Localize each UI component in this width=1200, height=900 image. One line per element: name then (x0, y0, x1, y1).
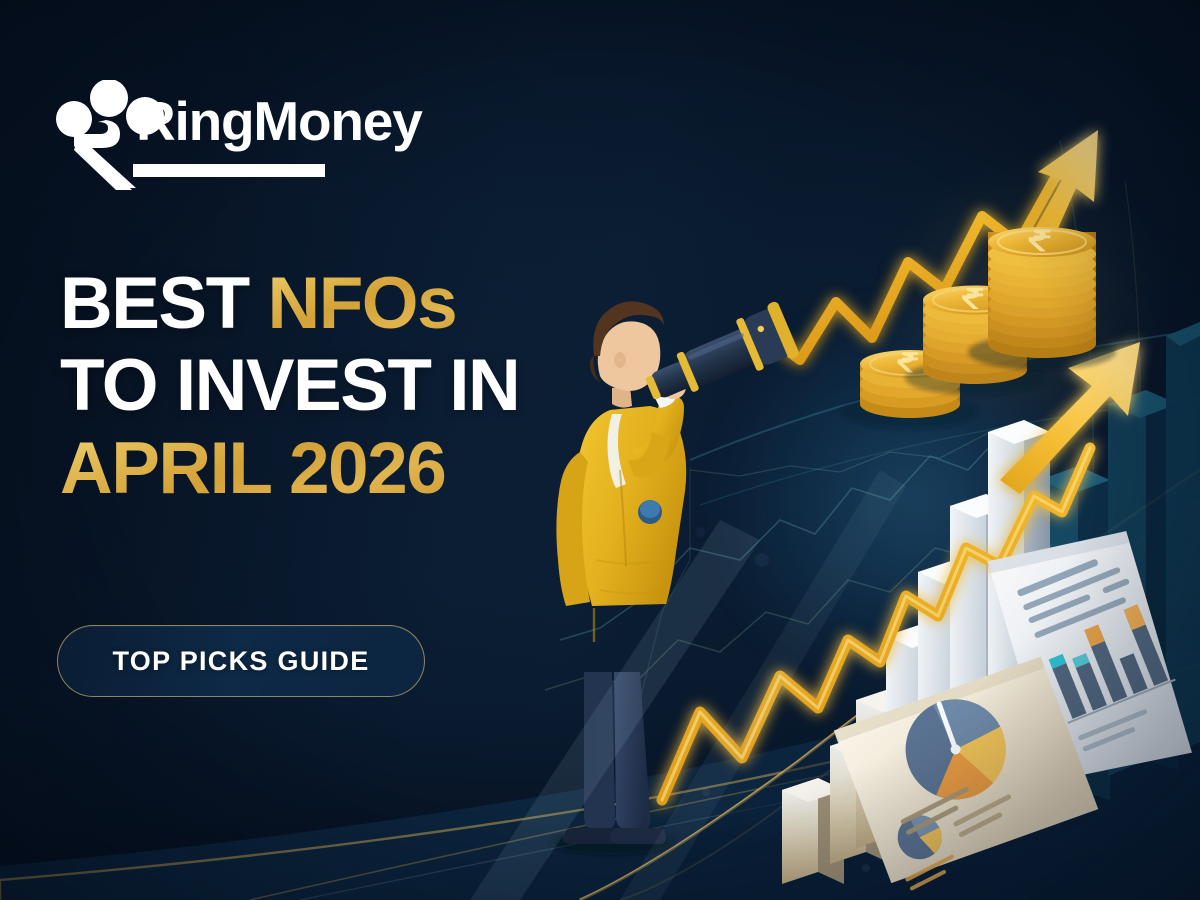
headline-phrase-april-2026: APRIL 2026 (60, 428, 445, 509)
headline-phrase-to-invest-in: TO INVEST IN (60, 345, 519, 426)
headline-block: BEST NFOs TO INVEST IN APRIL 2026 (60, 268, 600, 505)
logo-wordmark: RingMoney (136, 94, 422, 149)
top-picks-guide-badge[interactable]: TOP PICKS GUIDE (57, 625, 425, 697)
logo-underline-bar (133, 164, 325, 177)
headline-word-best: BEST (60, 263, 249, 344)
banner-canvas: RingMoney BEST NFOs TO INVEST IN APRIL 2… (0, 0, 1200, 900)
ringmoney-logo[interactable]: RingMoney (48, 80, 358, 192)
badge-label: TOP PICKS GUIDE (112, 646, 369, 677)
headline-line-2: TO INVEST IN (60, 350, 600, 422)
headline-word-nfos: NFOs (268, 263, 457, 344)
headline-line-3: APRIL 2026 (60, 433, 600, 505)
headline-line-1: BEST NFOs (60, 268, 600, 340)
